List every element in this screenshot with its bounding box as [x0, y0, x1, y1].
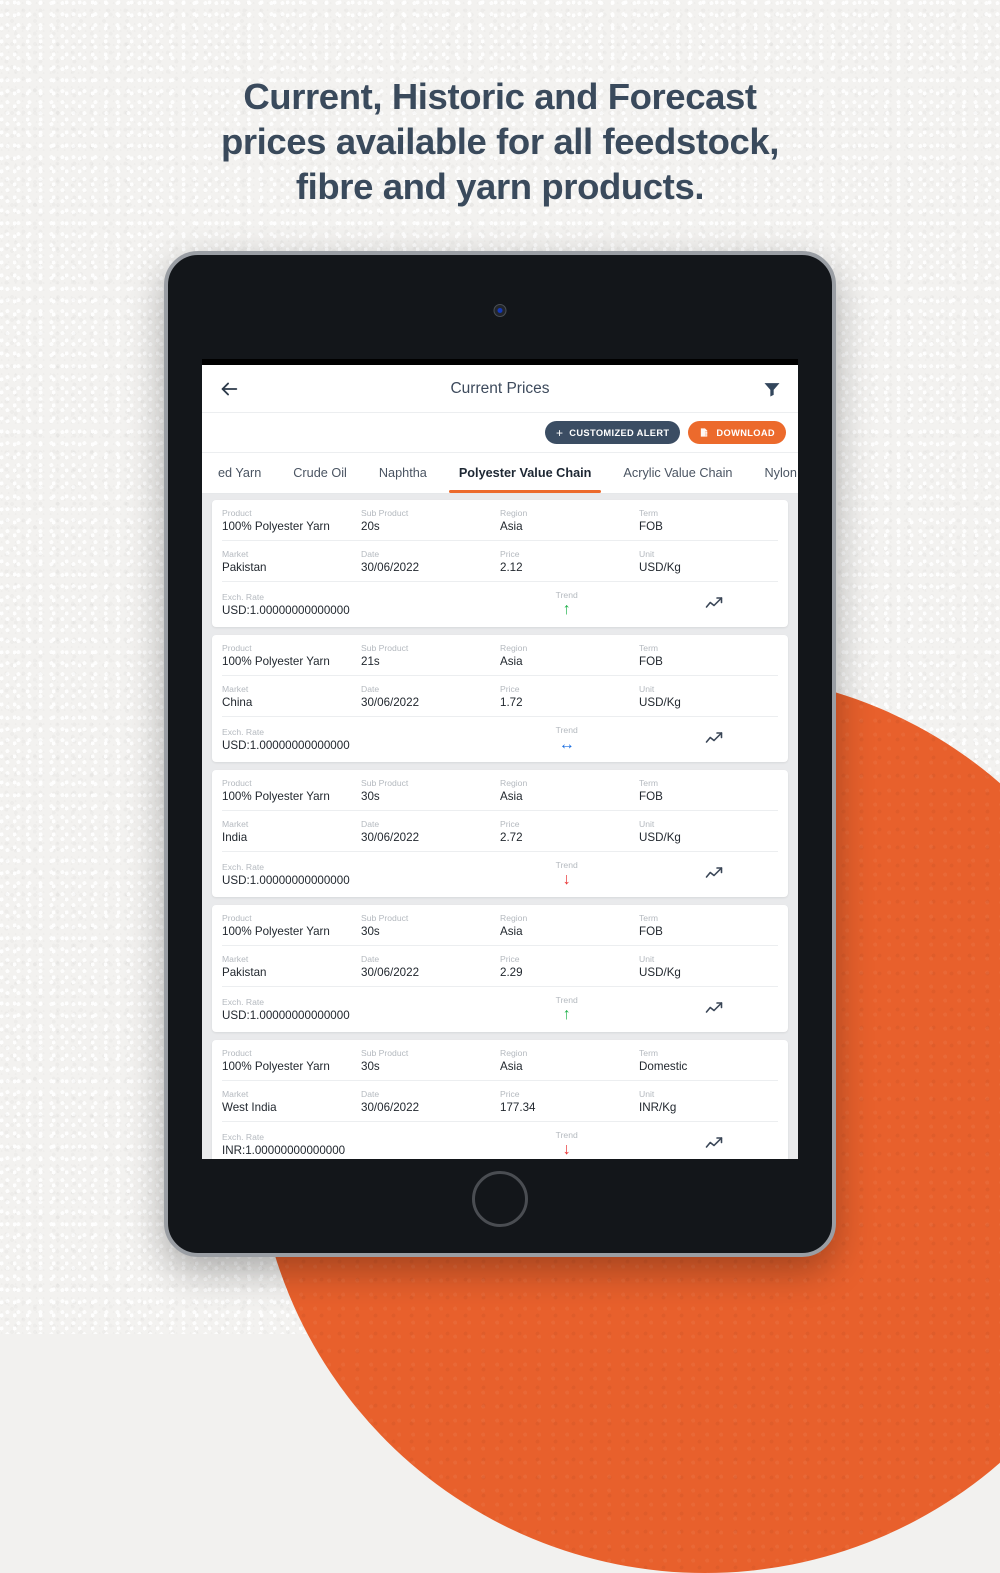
exch-rate-value: INR:1.00000000000000 — [222, 1143, 483, 1158]
term-value: FOB — [639, 924, 778, 939]
sub-product-value: 30s — [361, 789, 500, 804]
customized-alert-button[interactable]: + CUSTOMIZED ALERT — [545, 421, 680, 444]
date-value: 30/06/2022 — [361, 560, 500, 575]
date-cell: Date30/06/2022 — [361, 683, 500, 710]
card-row-product: Product100% Polyester YarnSub Product30s… — [222, 1040, 778, 1081]
price-list: Product100% Polyester YarnSub Product20s… — [202, 494, 798, 1159]
unit-value: USD/Kg — [639, 560, 778, 575]
product-value: 100% Polyester Yarn — [222, 789, 361, 804]
exch-rate-cell: Exch. RateUSD:1.00000000000000 — [222, 861, 483, 888]
unit-value: USD/Kg — [639, 695, 778, 710]
filter-funnel-icon[interactable] — [760, 377, 784, 401]
product-cell: Product100% Polyester Yarn — [222, 1047, 361, 1074]
card-row-exchange: Exch. RateUSD:1.00000000000000Trend↓ — [222, 852, 778, 897]
date-value: 30/06/2022 — [361, 830, 500, 845]
trend-cell: Trend↑ — [483, 589, 650, 619]
exch-rate-label: Exch. Rate — [222, 996, 483, 1008]
card-row-product: Product100% Polyester YarnSub Product21s… — [222, 635, 778, 676]
price-value: 1.72 — [500, 695, 639, 710]
tab-label: Acrylic Value Chain — [623, 466, 732, 480]
price-cell: Price1.72 — [500, 683, 639, 710]
term-value: FOB — [639, 789, 778, 804]
card-row-market: MarketWest IndiaDate30/06/2022Price177.3… — [222, 1081, 778, 1122]
price-card[interactable]: Product100% Polyester YarnSub Product20s… — [212, 500, 788, 627]
product-value: 100% Polyester Yarn — [222, 519, 361, 534]
trend-chart-icon[interactable] — [705, 730, 723, 748]
sub-product-label: Sub Product — [361, 1047, 500, 1059]
price-value: 2.29 — [500, 965, 639, 980]
date-label: Date — [361, 953, 500, 965]
product-label: Product — [222, 912, 361, 924]
term-cell: TermFOB — [639, 777, 778, 804]
unit-cell: UnitUSD/Kg — [639, 548, 778, 575]
tab-label: Naphtha — [379, 466, 427, 480]
exch-rate-value: USD:1.00000000000000 — [222, 603, 483, 618]
term-cell: TermFOB — [639, 642, 778, 669]
market-cell: MarketChina — [222, 683, 361, 710]
exch-rate-value: USD:1.00000000000000 — [222, 1008, 483, 1023]
date-value: 30/06/2022 — [361, 965, 500, 980]
date-label: Date — [361, 683, 500, 695]
date-cell: Date30/06/2022 — [361, 548, 500, 575]
product-label: Product — [222, 777, 361, 789]
unit-cell: UnitUSD/Kg — [639, 818, 778, 845]
trend-down-arrow-icon: ↓ — [563, 871, 571, 889]
unit-value: USD/Kg — [639, 965, 778, 980]
unit-label: Unit — [639, 818, 778, 830]
unit-value: USD/Kg — [639, 830, 778, 845]
sub-product-label: Sub Product — [361, 642, 500, 654]
region-label: Region — [500, 507, 639, 519]
price-label: Price — [500, 1088, 639, 1100]
download-button[interactable]: DOWNLOAD — [688, 421, 786, 444]
chart-cell — [650, 865, 778, 883]
market-value: India — [222, 830, 361, 845]
sub-product-value: 30s — [361, 924, 500, 939]
sub-product-label: Sub Product — [361, 507, 500, 519]
tab-label: Nylon Value — [764, 466, 798, 480]
product-value: 100% Polyester Yarn — [222, 1059, 361, 1074]
camera-icon — [494, 304, 507, 317]
sub-product-cell: Sub Product30s — [361, 1047, 500, 1074]
date-value: 30/06/2022 — [361, 695, 500, 710]
term-value: FOB — [639, 519, 778, 534]
trend-cell: Trend↔ — [483, 724, 650, 754]
trend-cell: Trend↓ — [483, 1129, 650, 1159]
card-row-market: MarketIndiaDate30/06/2022Price2.72UnitUS… — [222, 811, 778, 852]
date-cell: Date30/06/2022 — [361, 953, 500, 980]
product-cell: Product100% Polyester Yarn — [222, 912, 361, 939]
page-title: Current Prices — [202, 380, 798, 398]
product-label: Product — [222, 1047, 361, 1059]
date-label: Date — [361, 548, 500, 560]
unit-value: INR/Kg — [639, 1100, 778, 1115]
trend-label: Trend — [556, 1129, 578, 1141]
unit-label: Unit — [639, 1088, 778, 1100]
card-row-product: Product100% Polyester YarnSub Product20s… — [222, 500, 778, 541]
market-label: Market — [222, 818, 361, 830]
tab-label: ed Yarn — [218, 466, 261, 480]
chart-cell — [650, 730, 778, 748]
trend-chart-icon[interactable] — [705, 1000, 723, 1018]
sub-product-label: Sub Product — [361, 777, 500, 789]
unit-label: Unit — [639, 683, 778, 695]
tab-crude-oil[interactable]: Crude Oil — [277, 453, 363, 493]
sub-product-value: 30s — [361, 1059, 500, 1074]
tab-nylon-value[interactable]: Nylon Value — [748, 453, 798, 493]
exch-rate-label: Exch. Rate — [222, 1131, 483, 1143]
region-label: Region — [500, 777, 639, 789]
market-label: Market — [222, 683, 361, 695]
term-cell: TermFOB — [639, 912, 778, 939]
card-row-exchange: Exch. RateUSD:1.00000000000000Trend↑ — [222, 987, 778, 1032]
trend-cell: Trend↑ — [483, 994, 650, 1024]
date-cell: Date30/06/2022 — [361, 818, 500, 845]
price-card[interactable]: Product100% Polyester YarnSub Product21s… — [212, 635, 788, 762]
trend-cell: Trend↓ — [483, 859, 650, 889]
exch-rate-value: USD:1.00000000000000 — [222, 738, 483, 753]
product-label: Product — [222, 507, 361, 519]
region-value: Asia — [500, 924, 639, 939]
price-card[interactable]: Product100% Polyester YarnSub Product30s… — [212, 770, 788, 897]
download-label: DOWNLOAD — [716, 428, 775, 438]
tab-acrylic-value-chain[interactable]: Acrylic Value Chain — [607, 453, 748, 493]
download-file-icon — [699, 427, 710, 438]
exch-rate-label: Exch. Rate — [222, 726, 483, 738]
unit-cell: UnitUSD/Kg — [639, 953, 778, 980]
term-label: Term — [639, 1047, 778, 1059]
product-cell: Product100% Polyester Yarn — [222, 777, 361, 804]
region-value: Asia — [500, 654, 639, 669]
region-value: Asia — [500, 519, 639, 534]
price-label: Price — [500, 818, 639, 830]
back-arrow-icon[interactable] — [216, 376, 242, 402]
chart-cell — [650, 1000, 778, 1018]
sub-product-cell: Sub Product20s — [361, 507, 500, 534]
market-label: Market — [222, 1088, 361, 1100]
term-cell: TermDomestic — [639, 1047, 778, 1074]
term-label: Term — [639, 642, 778, 654]
market-value: West India — [222, 1100, 361, 1115]
region-cell: RegionAsia — [500, 642, 639, 669]
price-value: 177.34 — [500, 1100, 639, 1115]
tab-label: Polyester Value Chain — [459, 466, 592, 480]
date-label: Date — [361, 1088, 500, 1100]
chart-cell — [650, 595, 778, 613]
product-cell: Product100% Polyester Yarn — [222, 642, 361, 669]
product-value: 100% Polyester Yarn — [222, 924, 361, 939]
customized-alert-label: CUSTOMIZED ALERT — [569, 428, 669, 438]
unit-cell: UnitINR/Kg — [639, 1088, 778, 1115]
market-label: Market — [222, 953, 361, 965]
region-cell: RegionAsia — [500, 507, 639, 534]
tab-bar[interactable]: ed YarnCrude OilNaphthaPolyester Value C… — [202, 453, 798, 494]
price-label: Price — [500, 953, 639, 965]
price-label: Price — [500, 548, 639, 560]
trend-chart-icon[interactable] — [705, 865, 723, 883]
chart-cell — [650, 1135, 778, 1153]
term-value: Domestic — [639, 1059, 778, 1074]
term-value: FOB — [639, 654, 778, 669]
sub-product-value: 20s — [361, 519, 500, 534]
card-row-market: MarketPakistanDate30/06/2022Price2.12Uni… — [222, 541, 778, 582]
app-screen: Current Prices + CUSTOMIZED ALERT — [202, 359, 798, 1159]
app-bar: Current Prices — [202, 365, 798, 413]
market-value: Pakistan — [222, 560, 361, 575]
price-cell: Price2.12 — [500, 548, 639, 575]
term-label: Term — [639, 912, 778, 924]
trend-up-arrow-icon: ↑ — [563, 1006, 571, 1024]
tab-label: Crude Oil — [293, 466, 347, 480]
exch-rate-label: Exch. Rate — [222, 591, 483, 603]
price-card[interactable]: Product100% Polyester YarnSub Product30s… — [212, 1040, 788, 1159]
trend-up-arrow-icon: ↑ — [563, 601, 571, 619]
trend-flat-arrow-icon: ↔ — [559, 736, 575, 754]
product-label: Product — [222, 642, 361, 654]
tab-ed-yarn[interactable]: ed Yarn — [202, 453, 277, 493]
card-row-exchange: Exch. RateINR:1.00000000000000Trend↓ — [222, 1122, 778, 1159]
tab-polyester-value-chain[interactable]: Polyester Value Chain — [443, 453, 608, 493]
term-label: Term — [639, 777, 778, 789]
date-cell: Date30/06/2022 — [361, 1088, 500, 1115]
card-row-market: MarketPakistanDate30/06/2022Price2.29Uni… — [222, 946, 778, 987]
region-value: Asia — [500, 789, 639, 804]
term-label: Term — [639, 507, 778, 519]
trend-label: Trend — [556, 724, 578, 736]
trend-label: Trend — [556, 994, 578, 1006]
exch-rate-cell: Exch. RateINR:1.00000000000000 — [222, 1131, 483, 1158]
date-label: Date — [361, 818, 500, 830]
price-cell: Price2.29 — [500, 953, 639, 980]
product-cell: Product100% Polyester Yarn — [222, 507, 361, 534]
price-cell: Price177.34 — [500, 1088, 639, 1115]
plus-icon: + — [556, 427, 563, 439]
card-row-exchange: Exch. RateUSD:1.00000000000000Trend↔ — [222, 717, 778, 762]
price-cell: Price2.72 — [500, 818, 639, 845]
region-cell: RegionAsia — [500, 1047, 639, 1074]
card-row-product: Product100% Polyester YarnSub Product30s… — [222, 905, 778, 946]
market-cell: MarketIndia — [222, 818, 361, 845]
trend-label: Trend — [556, 859, 578, 871]
card-row-exchange: Exch. RateUSD:1.00000000000000Trend↑ — [222, 582, 778, 627]
sub-product-cell: Sub Product30s — [361, 912, 500, 939]
trend-label: Trend — [556, 589, 578, 601]
product-value: 100% Polyester Yarn — [222, 654, 361, 669]
market-label: Market — [222, 548, 361, 560]
market-cell: MarketPakistan — [222, 548, 361, 575]
unit-cell: UnitUSD/Kg — [639, 683, 778, 710]
region-value: Asia — [500, 1059, 639, 1074]
region-label: Region — [500, 1047, 639, 1059]
tab-naphtha[interactable]: Naphtha — [363, 453, 443, 493]
card-row-market: MarketChinaDate30/06/2022Price1.72UnitUS… — [222, 676, 778, 717]
exch-rate-cell: Exch. RateUSD:1.00000000000000 — [222, 591, 483, 618]
unit-label: Unit — [639, 953, 778, 965]
sub-product-cell: Sub Product30s — [361, 777, 500, 804]
price-value: 2.72 — [500, 830, 639, 845]
exch-rate-value: USD:1.00000000000000 — [222, 873, 483, 888]
region-label: Region — [500, 642, 639, 654]
date-value: 30/06/2022 — [361, 1100, 500, 1115]
price-value: 2.12 — [500, 560, 639, 575]
trend-down-arrow-icon: ↓ — [563, 1141, 571, 1159]
unit-label: Unit — [639, 548, 778, 560]
market-value: Pakistan — [222, 965, 361, 980]
region-cell: RegionAsia — [500, 777, 639, 804]
home-button[interactable] — [472, 1171, 528, 1227]
exch-rate-label: Exch. Rate — [222, 861, 483, 873]
sub-product-label: Sub Product — [361, 912, 500, 924]
market-cell: MarketWest India — [222, 1088, 361, 1115]
card-row-product: Product100% Polyester YarnSub Product30s… — [222, 770, 778, 811]
region-cell: RegionAsia — [500, 912, 639, 939]
sub-product-value: 21s — [361, 654, 500, 669]
region-label: Region — [500, 912, 639, 924]
sub-product-cell: Sub Product21s — [361, 642, 500, 669]
market-value: China — [222, 695, 361, 710]
market-cell: MarketPakistan — [222, 953, 361, 980]
term-cell: TermFOB — [639, 507, 778, 534]
exch-rate-cell: Exch. RateUSD:1.00000000000000 — [222, 726, 483, 753]
trend-chart-icon[interactable] — [705, 1135, 723, 1153]
price-label: Price — [500, 683, 639, 695]
action-bar: + CUSTOMIZED ALERT DOWNLOAD — [202, 413, 798, 453]
tablet-device-frame: Current Prices + CUSTOMIZED ALERT — [164, 251, 836, 1257]
price-card[interactable]: Product100% Polyester YarnSub Product30s… — [212, 905, 788, 1032]
page-headline: Current, Historic and Forecast prices av… — [0, 74, 1000, 209]
exch-rate-cell: Exch. RateUSD:1.00000000000000 — [222, 996, 483, 1023]
trend-chart-icon[interactable] — [705, 595, 723, 613]
